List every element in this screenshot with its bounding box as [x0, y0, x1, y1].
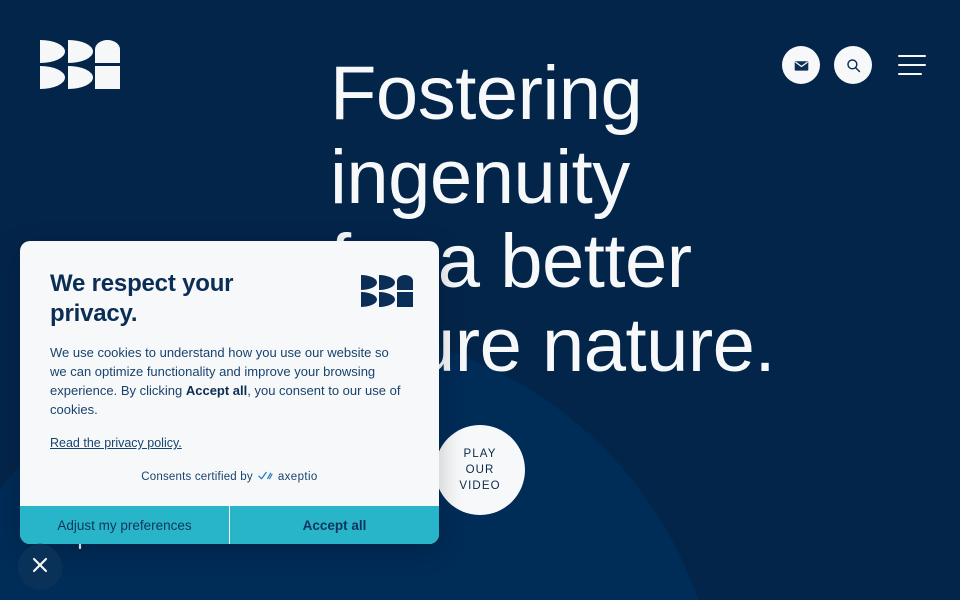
accept-all-button[interactable]: Accept all: [230, 506, 439, 544]
site-header: [0, 0, 960, 130]
consent-logo-tile-6: [397, 292, 413, 307]
cookie-consent-actions: Adjust my preferences Accept all: [20, 506, 439, 544]
axeptio-check-icon: [258, 470, 273, 484]
play-label-line-1: PLAY: [464, 446, 497, 462]
logo-tile-3: [95, 40, 120, 63]
burger-line-3: [898, 73, 922, 75]
hero-line-2: ingenuity: [330, 136, 750, 220]
cookie-consent-body: We respect your privacy. We use cookies …: [20, 241, 439, 506]
axeptio-brand: axeptio: [278, 471, 318, 483]
cookie-consent-title: We respect your privacy.: [50, 269, 300, 329]
logo-tile-5: [68, 66, 93, 89]
consent-text-bold: Accept all: [186, 383, 247, 398]
logo-tile-1: [40, 40, 65, 63]
logo-tile-6: [95, 66, 120, 89]
mail-button[interactable]: [782, 46, 820, 84]
consent-logo-tile-5: [379, 292, 395, 307]
header-actions: [782, 46, 926, 84]
burger-line-2: [898, 64, 926, 66]
play-label-line-3: VIDEO: [459, 478, 500, 494]
consent-logo-tile-2: [379, 275, 395, 290]
cookie-consent-dialog: We respect your privacy. We use cookies …: [20, 241, 439, 544]
bba-logo[interactable]: [40, 40, 120, 89]
play-label-line-2: OUR: [466, 462, 495, 478]
consent-logo-tile-1: [361, 275, 377, 290]
certified-prefix: Consents certified by: [141, 471, 253, 483]
privacy-policy-link[interactable]: Read the privacy policy.: [50, 436, 182, 450]
search-icon: [845, 57, 862, 74]
search-button[interactable]: [834, 46, 872, 84]
hero-page: Fostering ingenuity for a better future …: [0, 0, 960, 600]
adjust-preferences-button[interactable]: Adjust my preferences: [20, 506, 229, 544]
cookie-consent-text: We use cookies to understand how you use…: [50, 343, 406, 419]
mail-icon: [793, 57, 810, 74]
close-consent-widget-button[interactable]: [18, 544, 62, 590]
burger-line-1: [898, 55, 926, 57]
consent-logo-tile-4: [361, 292, 377, 307]
play-our-video-button[interactable]: PLAY OUR VIDEO: [435, 425, 525, 515]
bba-logo-small: [361, 275, 413, 307]
consent-logo-tile-3: [397, 275, 413, 290]
logo-tile-4: [40, 66, 65, 89]
logo-tile-2: [68, 40, 93, 63]
hamburger-menu-icon[interactable]: [898, 55, 926, 75]
axeptio-certified-note: Consents certified by axeptio: [50, 452, 409, 496]
